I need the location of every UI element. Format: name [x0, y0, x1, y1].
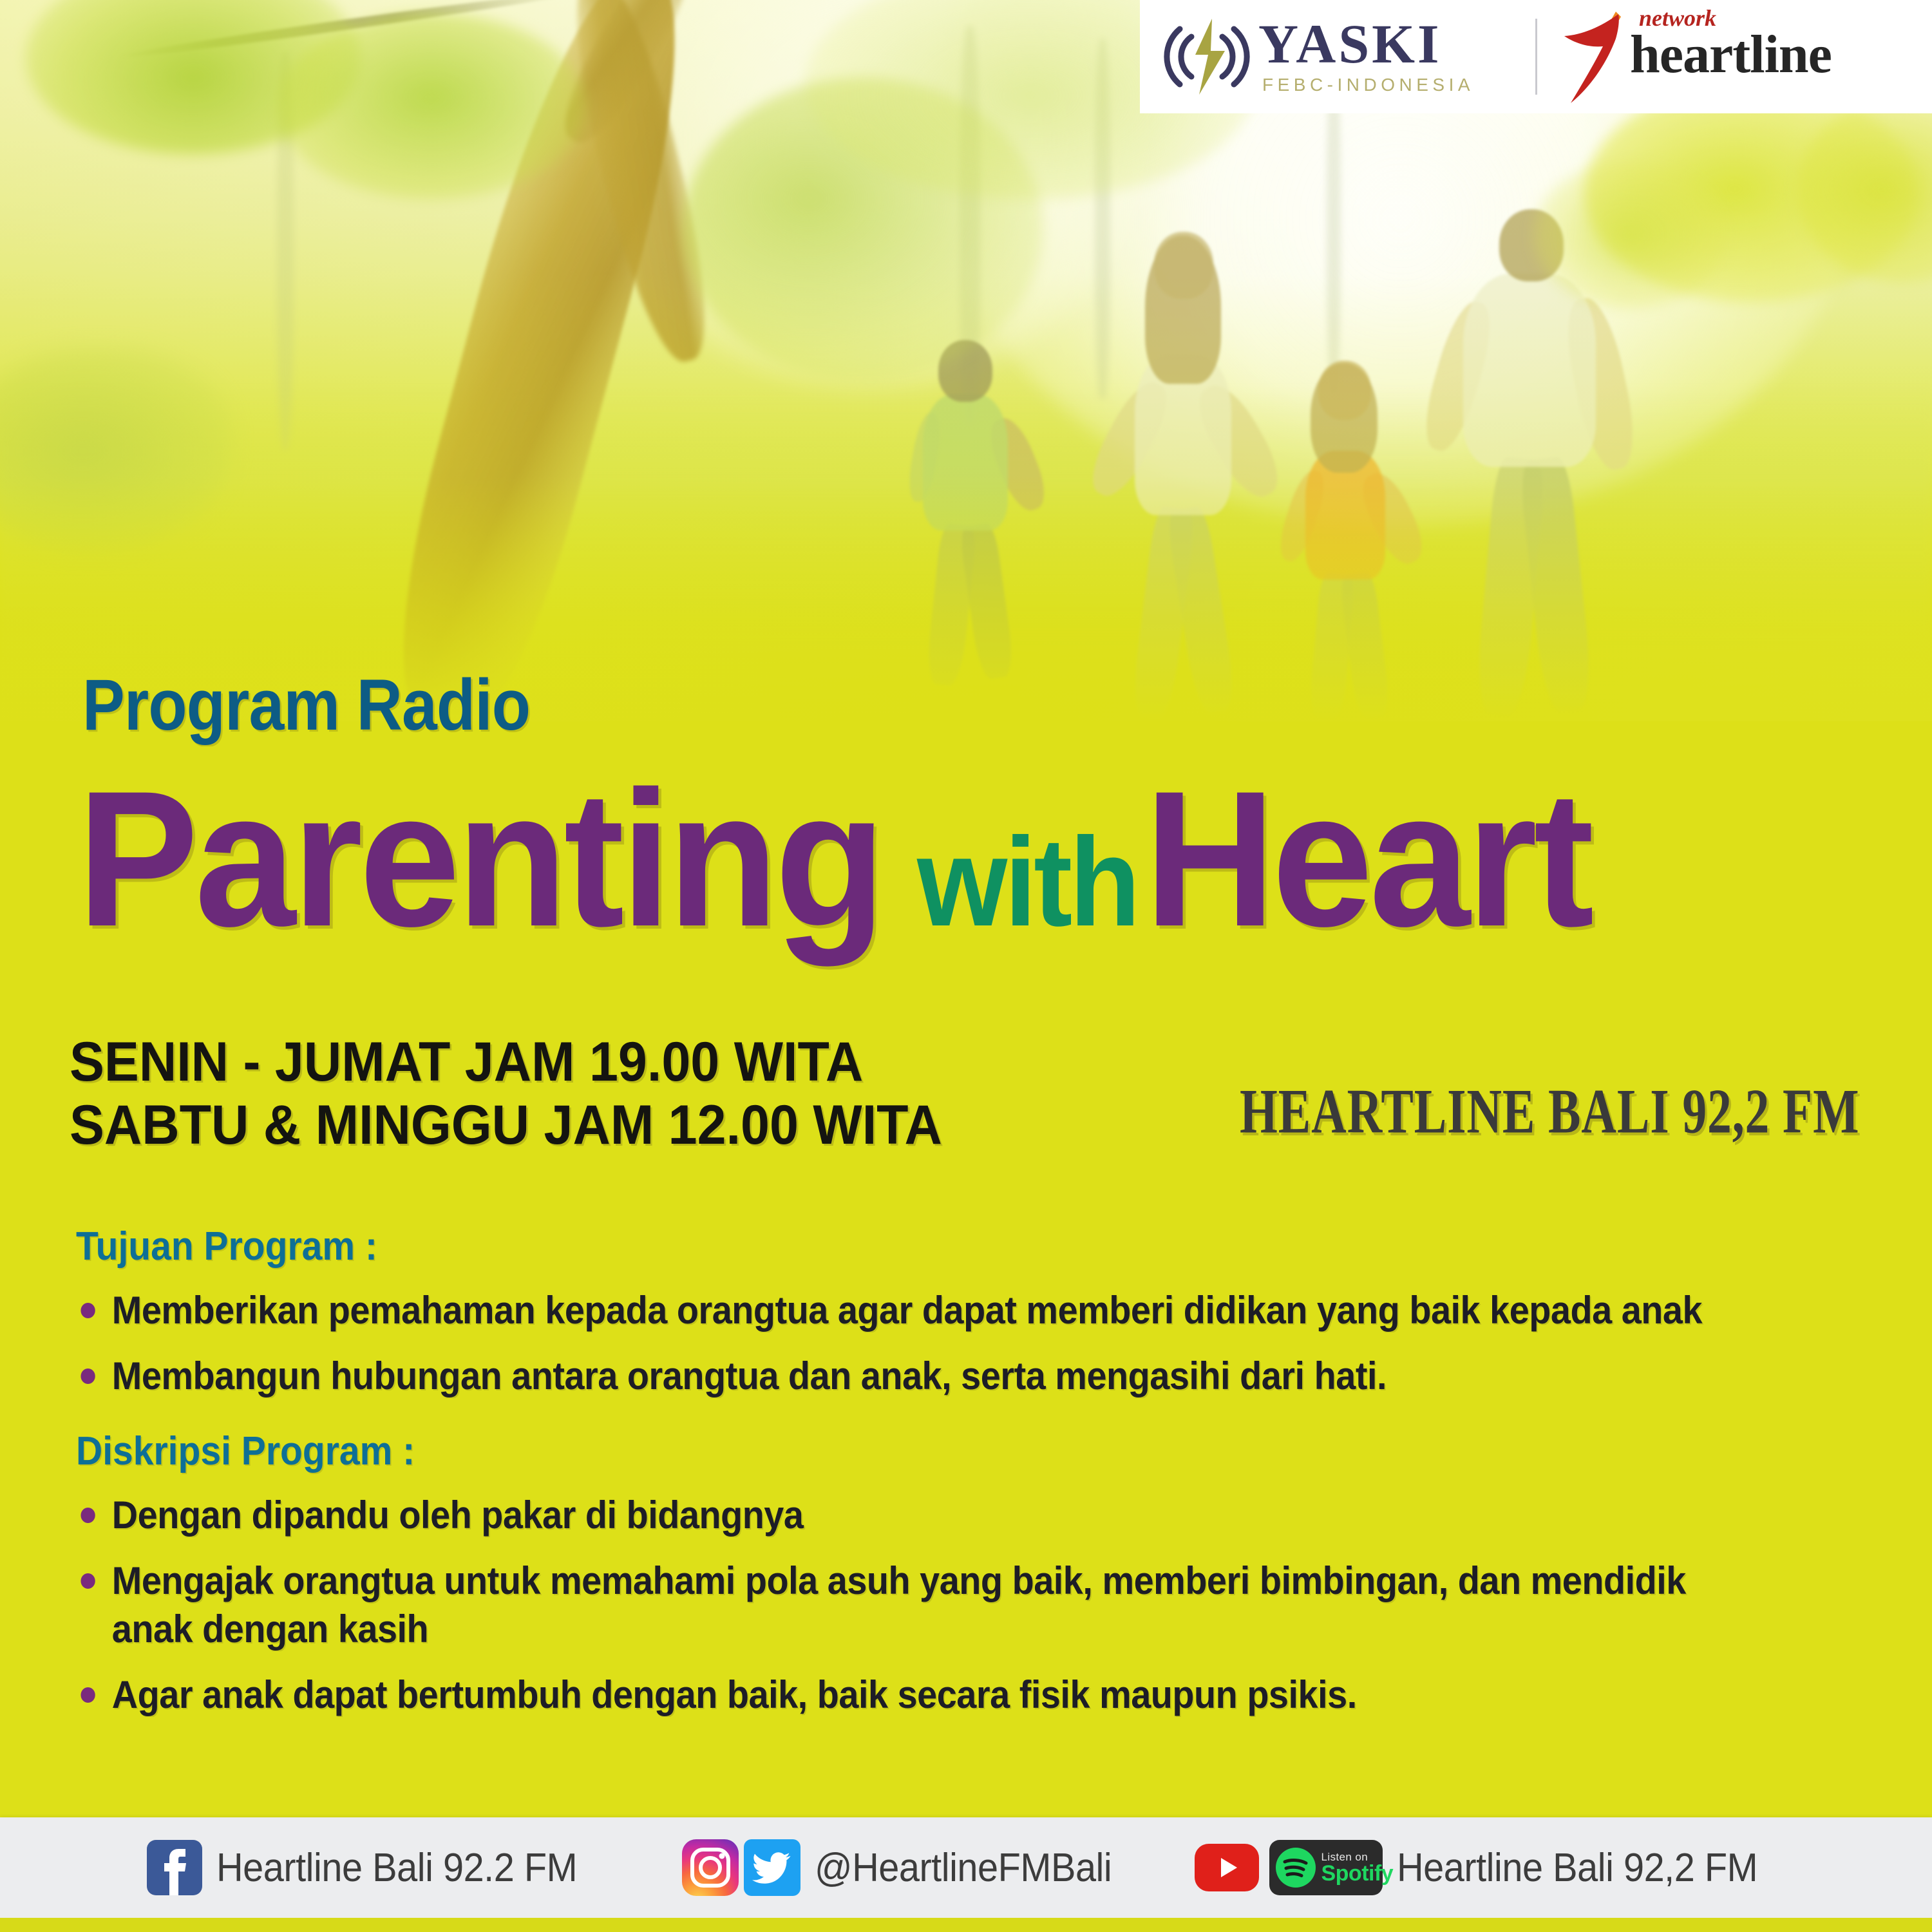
yaski-broadcast-lightning-icon	[1158, 15, 1255, 99]
section-heading: Tujuan Program :	[76, 1224, 1741, 1269]
yaski-logo: YASKI FEBC-INDONESIA	[1158, 15, 1531, 99]
heartline-wordmark: network heartline	[1630, 6, 1832, 79]
footer-yellow-strip	[0, 1918, 1932, 1932]
heartline-flame-figure-icon	[1554, 10, 1635, 107]
foliage-icon	[277, 13, 586, 200]
schedule-line-weekend: SABTU & MINGGU JAM 12.00 WITA	[70, 1094, 942, 1157]
spotify-wordmark: Listen on Spotify	[1321, 1851, 1393, 1884]
child-boy-silhouette	[905, 340, 1040, 701]
title-with: with	[917, 810, 1137, 954]
list-item: Dengan dipandu oleh pakar di bidangnya	[76, 1491, 1759, 1540]
youtube-icon[interactable]	[1195, 1844, 1259, 1891]
section-heading: Diskripsi Program :	[76, 1428, 1741, 1474]
yaski-name: YASKI	[1258, 18, 1474, 71]
station-name: HEARTLINE BALI 92,2 FM	[1240, 1075, 1859, 1148]
twitter-label: @HeartlineFMBali	[815, 1845, 1112, 1891]
list-item: Agar anak dapat bertumbuh dengan baik, b…	[76, 1671, 1759, 1719]
social-footer: Heartline Bali 92.2 FM @HeartlineFMBali	[0, 1817, 1932, 1918]
yaski-subtitle: FEBC-INDONESIA	[1262, 75, 1474, 95]
poster-root: YASKI FEBC-INDONESIA network heartline P…	[0, 0, 1932, 1932]
spotify-label: Heartline Bali 92,2 FM	[1397, 1845, 1757, 1891]
instagram-twitter-entry[interactable]: @HeartlineFMBali	[682, 1839, 1134, 1896]
list-item: Mengajak orangtua untuk memahami pola as…	[76, 1557, 1759, 1654]
list-item: Membangun hubungan antara orangtua dan a…	[76, 1352, 1759, 1401]
yaski-wordmark: YASKI FEBC-INDONESIA	[1258, 18, 1474, 95]
page-title: Parenting with Heart	[77, 747, 1619, 970]
foliage-icon	[1533, 161, 1726, 309]
facebook-entry[interactable]: Heartline Bali 92.2 FM	[147, 1840, 604, 1895]
youtube-spotify-entry[interactable]: Listen on Spotify Heartline Bali 92,2 FM	[1195, 1840, 1785, 1895]
spotify-listen-on-label: Listen on	[1321, 1851, 1393, 1862]
spotify-glyph	[1276, 1848, 1316, 1888]
facebook-label: Heartline Bali 92.2 FM	[216, 1845, 577, 1891]
section-diskripsi-program: Diskripsi Program : Dengan dipandu oleh …	[76, 1428, 1886, 1736]
heartline-logo: network heartline	[1554, 6, 1832, 107]
facebook-icon[interactable]	[147, 1840, 202, 1895]
eyebrow-program-radio: Program Radio	[82, 663, 530, 746]
heartline-name: heartline	[1630, 30, 1832, 79]
title-heart: Heart	[1144, 747, 1591, 970]
brand-logo-panel: YASKI FEBC-INDONESIA network heartline	[1140, 0, 1932, 113]
broadcast-schedule: SENIN - JUMAT JAM 19.00 WITA SABTU & MIN…	[70, 1030, 998, 1157]
logo-divider	[1535, 19, 1537, 95]
twitter-icon[interactable]	[744, 1839, 800, 1896]
list-item: Memberikan pemahaman kepada orangtua aga…	[76, 1286, 1759, 1335]
mother-silhouette	[1095, 232, 1275, 721]
bullet-list: Memberikan pemahaman kepada orangtua aga…	[76, 1286, 1886, 1400]
spotify-brand-label: Spotify	[1321, 1862, 1393, 1884]
bullet-list: Dengan dipandu oleh pakar di bidangnya M…	[76, 1491, 1886, 1719]
spotify-icon[interactable]: Listen on Spotify	[1269, 1840, 1383, 1895]
child-girl-silhouette	[1278, 361, 1426, 721]
instagram-icon[interactable]	[682, 1839, 739, 1896]
title-parenting: Parenting	[77, 747, 882, 970]
section-tujuan-program: Tujuan Program : Memberikan pemahaman ke…	[76, 1224, 1886, 1417]
schedule-line-weekday: SENIN - JUMAT JAM 19.00 WITA	[70, 1030, 942, 1094]
